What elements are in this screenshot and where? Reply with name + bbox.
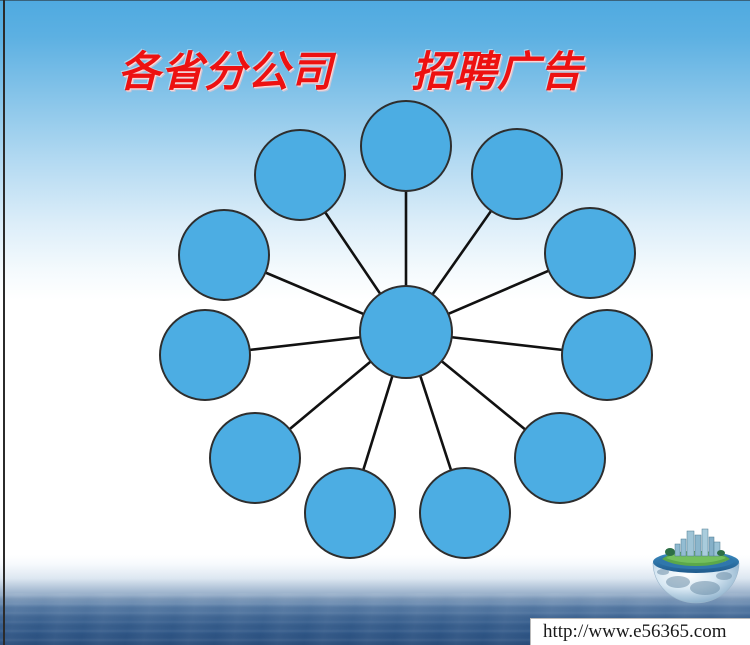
spoke-line-bottom-mid-left — [363, 374, 393, 472]
node-right-lower[interactable] — [562, 310, 652, 400]
node-top-shape[interactable] — [361, 101, 451, 191]
slide-canvas: 各省分公司 招聘广告 — [0, 0, 750, 645]
node-left-upper[interactable] — [179, 210, 269, 300]
node-right-upper[interactable] — [545, 208, 635, 298]
node-top[interactable] — [361, 101, 451, 191]
node-left-upper-shape[interactable] — [179, 210, 269, 300]
node-bottom-left-shape[interactable] — [210, 413, 300, 503]
node-right-upper-shape[interactable] — [545, 208, 635, 298]
node-bottom-right[interactable] — [515, 413, 605, 503]
node-bottom-left[interactable] — [210, 413, 300, 503]
node-bottom-right-shape[interactable] — [515, 413, 605, 503]
watermark-url: http://www.e56365.com — [543, 621, 726, 643]
node-top-right-shape[interactable] — [472, 129, 562, 219]
spoke-line-top-right — [431, 209, 492, 296]
node-bottom-mid-left[interactable] — [305, 468, 395, 558]
spoke-line-left-lower — [248, 337, 363, 350]
watermark-box: http://www.e56365.com — [530, 618, 750, 645]
spoke-line-right-upper — [446, 270, 550, 315]
hub-and-spoke-diagram — [0, 0, 750, 645]
spoke-line-bottom-mid-right — [420, 374, 452, 472]
node-bottom-mid-right[interactable] — [420, 468, 510, 558]
spoke-line-bottom-left — [288, 360, 372, 430]
node-top-right[interactable] — [472, 129, 562, 219]
spoke-line-right-lower — [450, 337, 565, 350]
node-top-left-shape[interactable] — [255, 130, 345, 220]
globe-city-logo — [648, 528, 744, 606]
spoke-line-left-upper — [264, 272, 366, 315]
node-bottom-mid-right-shape[interactable] — [420, 468, 510, 558]
node-bottom-mid-left-shape[interactable] — [305, 468, 395, 558]
nodes-layer — [160, 101, 652, 558]
node-left-lower-shape[interactable] — [160, 310, 250, 400]
node-right-lower-shape[interactable] — [562, 310, 652, 400]
hub-node-shape[interactable] — [360, 286, 452, 378]
node-left-lower[interactable] — [160, 310, 250, 400]
hub-node[interactable] — [360, 286, 452, 378]
node-top-left[interactable] — [255, 130, 345, 220]
spoke-line-top-left — [324, 211, 381, 296]
spoke-line-bottom-right — [440, 360, 527, 431]
